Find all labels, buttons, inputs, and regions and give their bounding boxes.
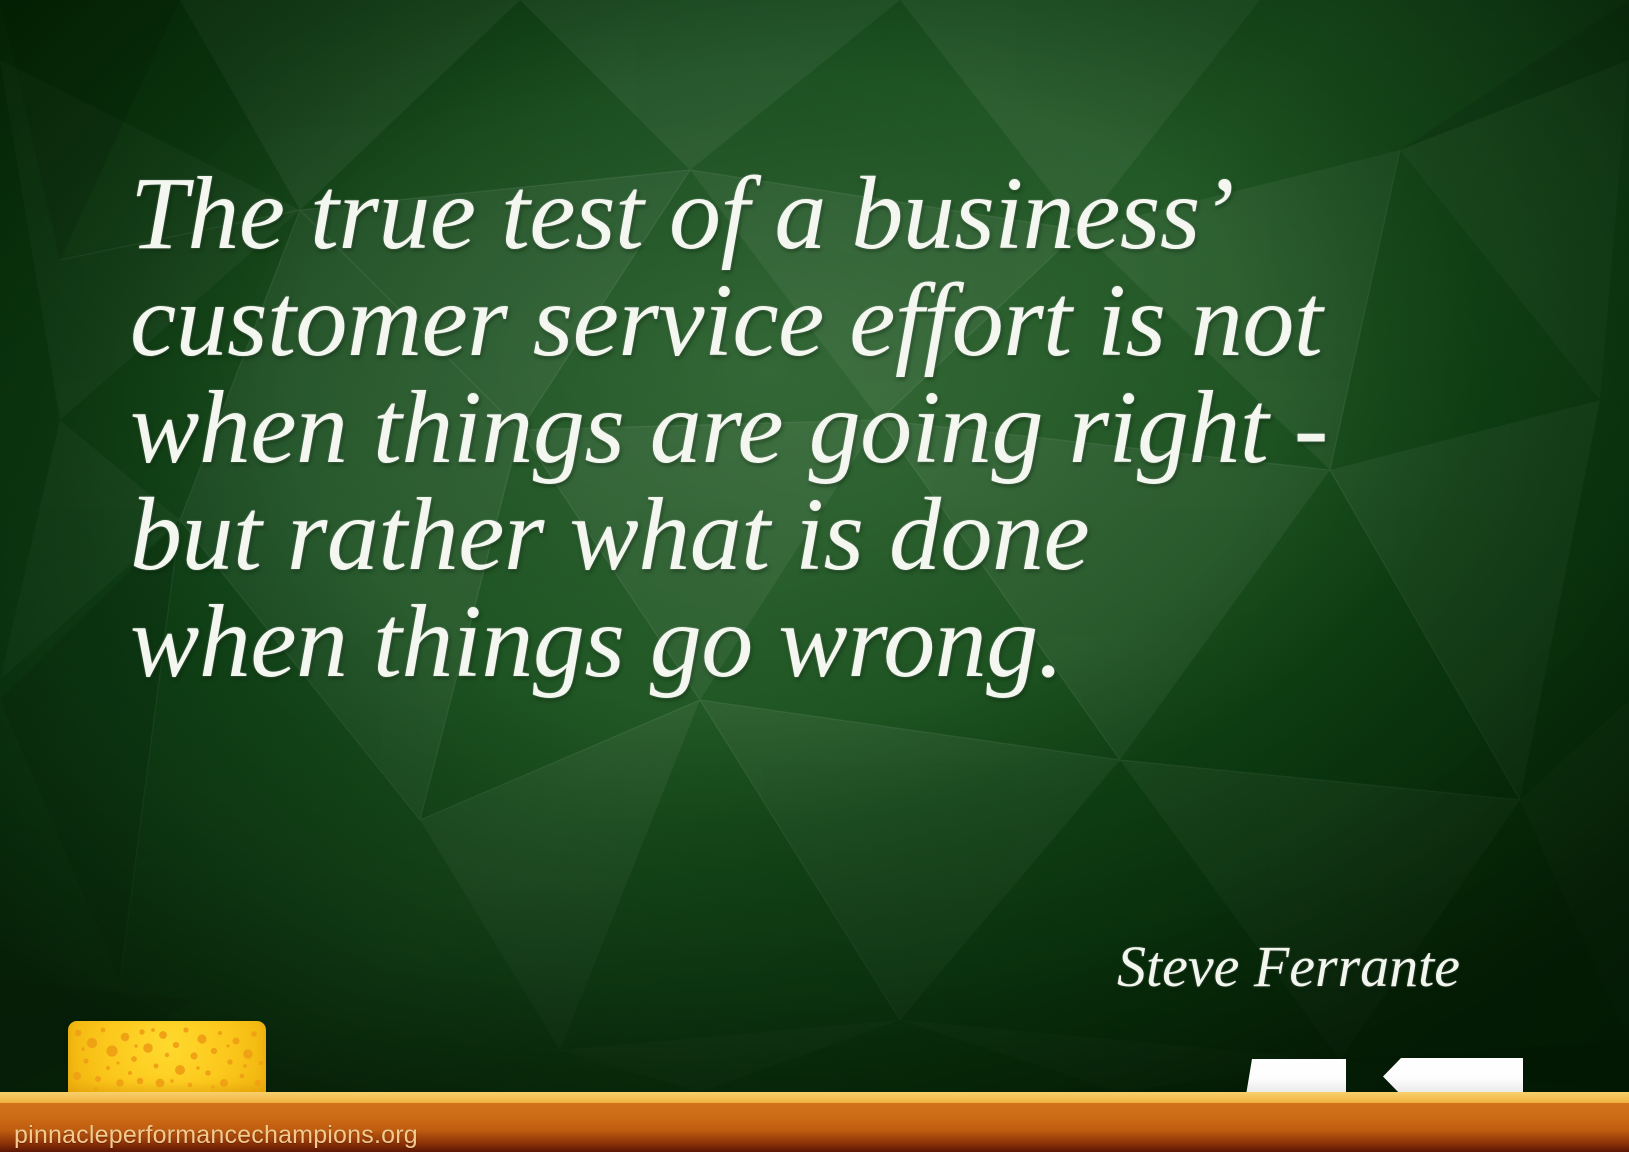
chalkboard-quote-slide: The true test of a business’ customer se… [0, 0, 1629, 1152]
ledge-face: pinnacleperformancechampions.org [0, 1103, 1629, 1152]
chalkboard-ledge: pinnacleperformancechampions.org [0, 1092, 1629, 1152]
sponge-eraser[interactable] [68, 1021, 266, 1093]
chalk-stick-long[interactable] [1383, 1058, 1523, 1095]
quote-line-1: The true test of a business’ [130, 160, 1470, 267]
chalk-stick-short[interactable] [1246, 1059, 1346, 1095]
site-url-text[interactable]: pinnacleperformancechampions.org [14, 1121, 418, 1150]
quote-line-5: when things go wrong. [130, 588, 1470, 695]
ledge-lip [0, 1092, 1629, 1103]
quote-line-2: customer service effort is not [130, 267, 1470, 374]
quote-line-4: but rather what is done [130, 481, 1470, 588]
quote-block: The true test of a business’ customer se… [130, 160, 1470, 695]
quote-attribution: Steve Ferrante [130, 935, 1460, 999]
quote-line-3: when things are going right - [130, 374, 1470, 481]
